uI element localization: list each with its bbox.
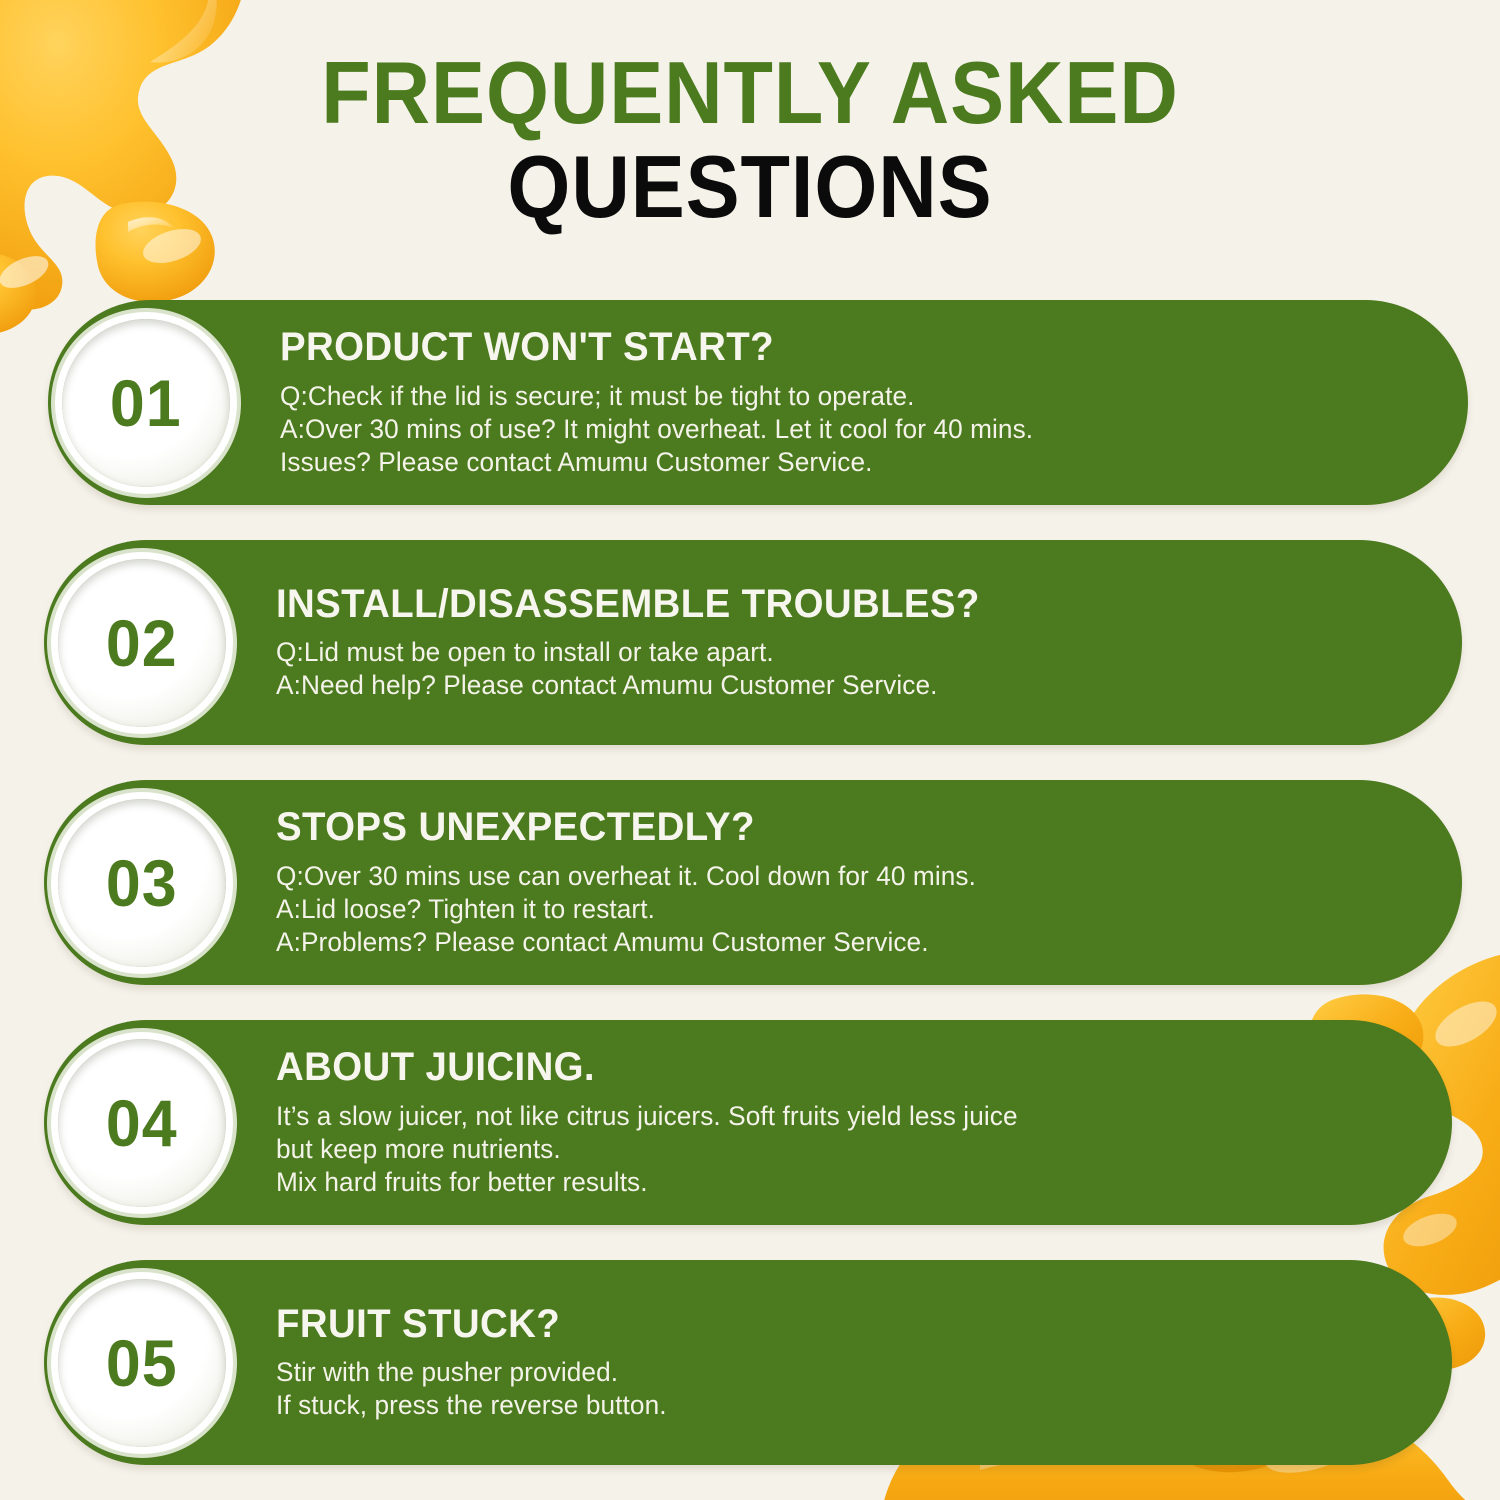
- faq-item-03[interactable]: 03 STOPS UNEXPECTEDLY? Q:Over 30 mins us…: [44, 780, 1462, 985]
- faq-item-04[interactable]: 04 ABOUT JUICING. It’s a slow juicer, no…: [44, 1020, 1452, 1225]
- faq-number-04: 04: [106, 1085, 178, 1161]
- faq-line: Q:Lid must be open to install or take ap…: [276, 636, 987, 669]
- page-title-line-2: QUESTIONS: [60, 142, 1440, 232]
- faq-number-badge-04: 04: [58, 1039, 226, 1207]
- faq-line: but keep more nutrients.: [276, 1133, 1018, 1166]
- faq-body-04: ABOUT JUICING. It’s a slow juicer, not l…: [276, 1046, 1081, 1198]
- faq-heading-01: PRODUCT WON'T START?: [280, 326, 1025, 369]
- faq-line: A:Problems? Please contact Amumu Custome…: [276, 926, 976, 959]
- faq-body-01: PRODUCT WON'T START? Q:Check if the lid …: [280, 326, 1096, 478]
- faq-number-03: 03: [106, 845, 178, 921]
- faq-line: It’s a slow juicer, not like citrus juic…: [276, 1100, 1018, 1133]
- page-title-line-1: FREQUENTLY ASKED: [60, 48, 1440, 138]
- faq-number-badge-03: 03: [58, 799, 226, 967]
- faq-line: Stir with the pusher provided.: [276, 1356, 667, 1389]
- faq-lines-02: Q:Lid must be open to install or take ap…: [276, 636, 1009, 702]
- faq-body-05: FRUIT STUCK? Stir with the pusher provid…: [276, 1303, 719, 1422]
- faq-lines-04: It’s a slow juicer, not like citrus juic…: [276, 1100, 1041, 1199]
- faq-line: If stuck, press the reverse button.: [276, 1389, 667, 1422]
- faq-number-01: 01: [110, 365, 182, 441]
- faq-heading-05: FRUIT STUCK?: [276, 1303, 663, 1346]
- faq-heading-04: ABOUT JUICING.: [276, 1046, 1010, 1089]
- faq-heading-02: INSTALL/DISASSEMBLE TROUBLES?: [276, 583, 980, 626]
- faq-line: Q:Over 30 mins use can overheat it. Cool…: [276, 860, 976, 893]
- faq-line: Issues? Please contact Amumu Customer Se…: [280, 446, 1033, 479]
- faq-line: A:Lid loose? Tighten it to restart.: [276, 893, 976, 926]
- faq-number-badge-01: 01: [62, 319, 230, 487]
- faq-lines-03: Q:Over 30 mins use can overheat it. Cool…: [276, 860, 998, 959]
- faq-item-01[interactable]: 01 PRODUCT WON'T START? Q:Check if the l…: [48, 300, 1468, 505]
- page-title: FREQUENTLY ASKED QUESTIONS: [0, 48, 1500, 232]
- faq-line: A:Need help? Please contact Amumu Custom…: [276, 669, 987, 702]
- faq-line: Mix hard fruits for better results.: [276, 1166, 1018, 1199]
- faq-item-02[interactable]: 02 INSTALL/DISASSEMBLE TROUBLES? Q:Lid m…: [44, 540, 1462, 745]
- faq-body-02: INSTALL/DISASSEMBLE TROUBLES? Q:Lid must…: [276, 583, 1049, 702]
- faq-number-badge-02: 02: [58, 559, 226, 727]
- faq-infographic: FREQUENTLY ASKED QUESTIONS 01 PRODUCT WO…: [0, 0, 1500, 1500]
- faq-number-badge-05: 05: [58, 1279, 226, 1447]
- faq-heading-03: STOPS UNEXPECTEDLY?: [276, 806, 969, 849]
- faq-body-03: STOPS UNEXPECTEDLY? Q:Over 30 mins use c…: [276, 806, 1038, 958]
- faq-number-05: 05: [106, 1325, 178, 1401]
- faq-line: A:Over 30 mins of use? It might overheat…: [280, 413, 1033, 446]
- faq-lines-01: Q:Check if the lid is secure; it must be…: [280, 380, 1056, 479]
- faq-line: Q:Check if the lid is secure; it must be…: [280, 380, 1033, 413]
- faq-lines-05: Stir with the pusher provided. If stuck,…: [276, 1356, 679, 1422]
- faq-item-05[interactable]: 05 FRUIT STUCK? Stir with the pusher pro…: [44, 1260, 1452, 1465]
- faq-list: 01 PRODUCT WON'T START? Q:Check if the l…: [0, 300, 1500, 1465]
- faq-number-02: 02: [106, 605, 178, 681]
